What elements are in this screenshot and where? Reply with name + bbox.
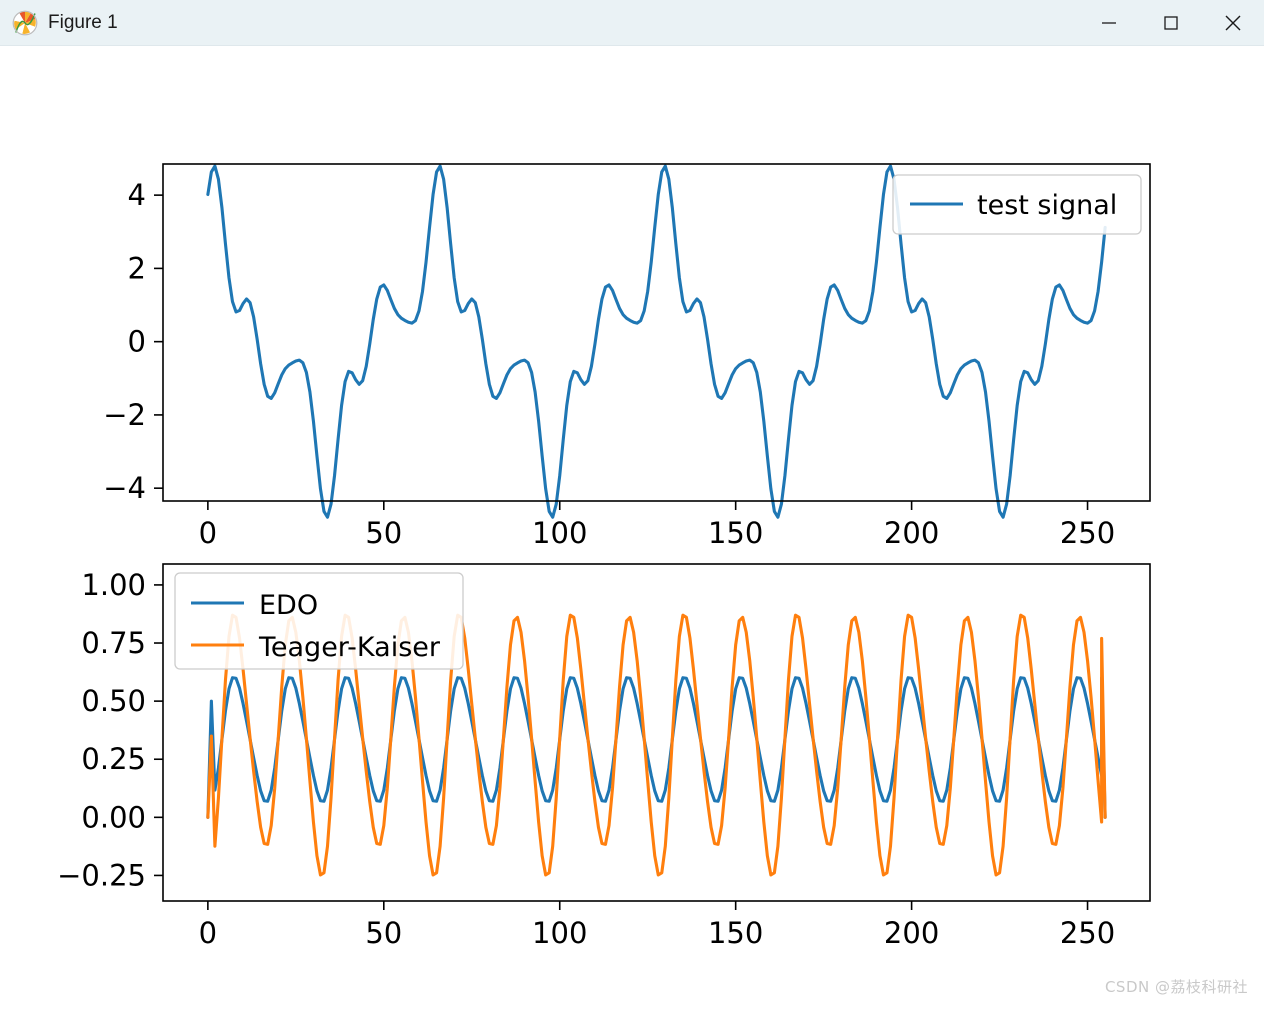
- x-tick-label: 0: [199, 516, 217, 550]
- figure-canvas: 420−2−4 050100150200250 test signal 1.00…: [0, 46, 1264, 1011]
- y-tick-label: 0.00: [81, 800, 146, 834]
- y-tick-label: −0.25: [57, 858, 146, 892]
- matplotlib-icon: [12, 10, 38, 36]
- close-button[interactable]: [1202, 0, 1264, 46]
- y-tick-label: −2: [103, 398, 146, 432]
- top-plot-legend[interactable]: test signal: [893, 175, 1141, 234]
- x-tick-label: 100: [532, 516, 587, 550]
- minimize-button[interactable]: [1078, 0, 1140, 46]
- legend-label-test-signal: test signal: [977, 190, 1117, 221]
- window-title: Figure 1: [48, 12, 118, 34]
- x-tick-label: 150: [708, 516, 763, 550]
- y-tick-label: 2: [128, 251, 146, 285]
- minimize-icon: [1098, 12, 1120, 34]
- x-tick-label: 200: [884, 916, 939, 950]
- title-bar-left: Figure 1: [0, 10, 118, 36]
- x-tick-label: 200: [884, 516, 939, 550]
- y-tick-label: 0.75: [81, 626, 146, 660]
- y-tick-label: 0.25: [81, 742, 146, 776]
- top-plot-y-ticks: 420−2−4: [103, 178, 163, 505]
- y-tick-label: 0.50: [81, 684, 146, 718]
- x-tick-label: 150: [708, 916, 763, 950]
- bottom-plot-y-ticks: 1.000.750.500.250.00−0.25: [57, 568, 163, 893]
- bottom-plot-x-ticks: 050100150200250: [199, 901, 1116, 950]
- window-controls: [1078, 0, 1264, 46]
- title-bar: Figure 1: [0, 0, 1264, 46]
- x-tick-label: 50: [365, 516, 402, 550]
- x-tick-label: 0: [199, 916, 217, 950]
- y-tick-label: −4: [103, 471, 146, 505]
- legend-label-edo: EDO: [259, 590, 318, 621]
- maximize-button[interactable]: [1140, 0, 1202, 46]
- x-tick-label: 250: [1060, 916, 1115, 950]
- figure-window: Figure 1: [0, 0, 1264, 1011]
- top-plot-x-ticks: 050100150200250: [199, 501, 1116, 550]
- bottom-plot-legend[interactable]: EDO Teager-Kaiser: [175, 573, 463, 669]
- legend-label-teager-kaiser: Teager-Kaiser: [258, 632, 441, 663]
- x-tick-label: 250: [1060, 516, 1115, 550]
- matplotlib-figure: 420−2−4 050100150200250 test signal 1.00…: [0, 46, 1264, 1011]
- y-tick-label: 4: [128, 178, 146, 212]
- y-tick-label: 0: [128, 325, 146, 359]
- x-tick-label: 100: [532, 916, 587, 950]
- y-tick-label: 1.00: [81, 568, 146, 602]
- bottom-axes: 1.000.750.500.250.00−0.25 05010015020025…: [57, 564, 1150, 950]
- csdn-watermark: CSDN @荔枝科研社: [1105, 976, 1248, 997]
- top-axes: 420−2−4 050100150200250 test signal: [103, 164, 1150, 550]
- x-tick-label: 50: [365, 916, 402, 950]
- maximize-icon: [1160, 12, 1182, 34]
- close-icon: [1221, 11, 1245, 35]
